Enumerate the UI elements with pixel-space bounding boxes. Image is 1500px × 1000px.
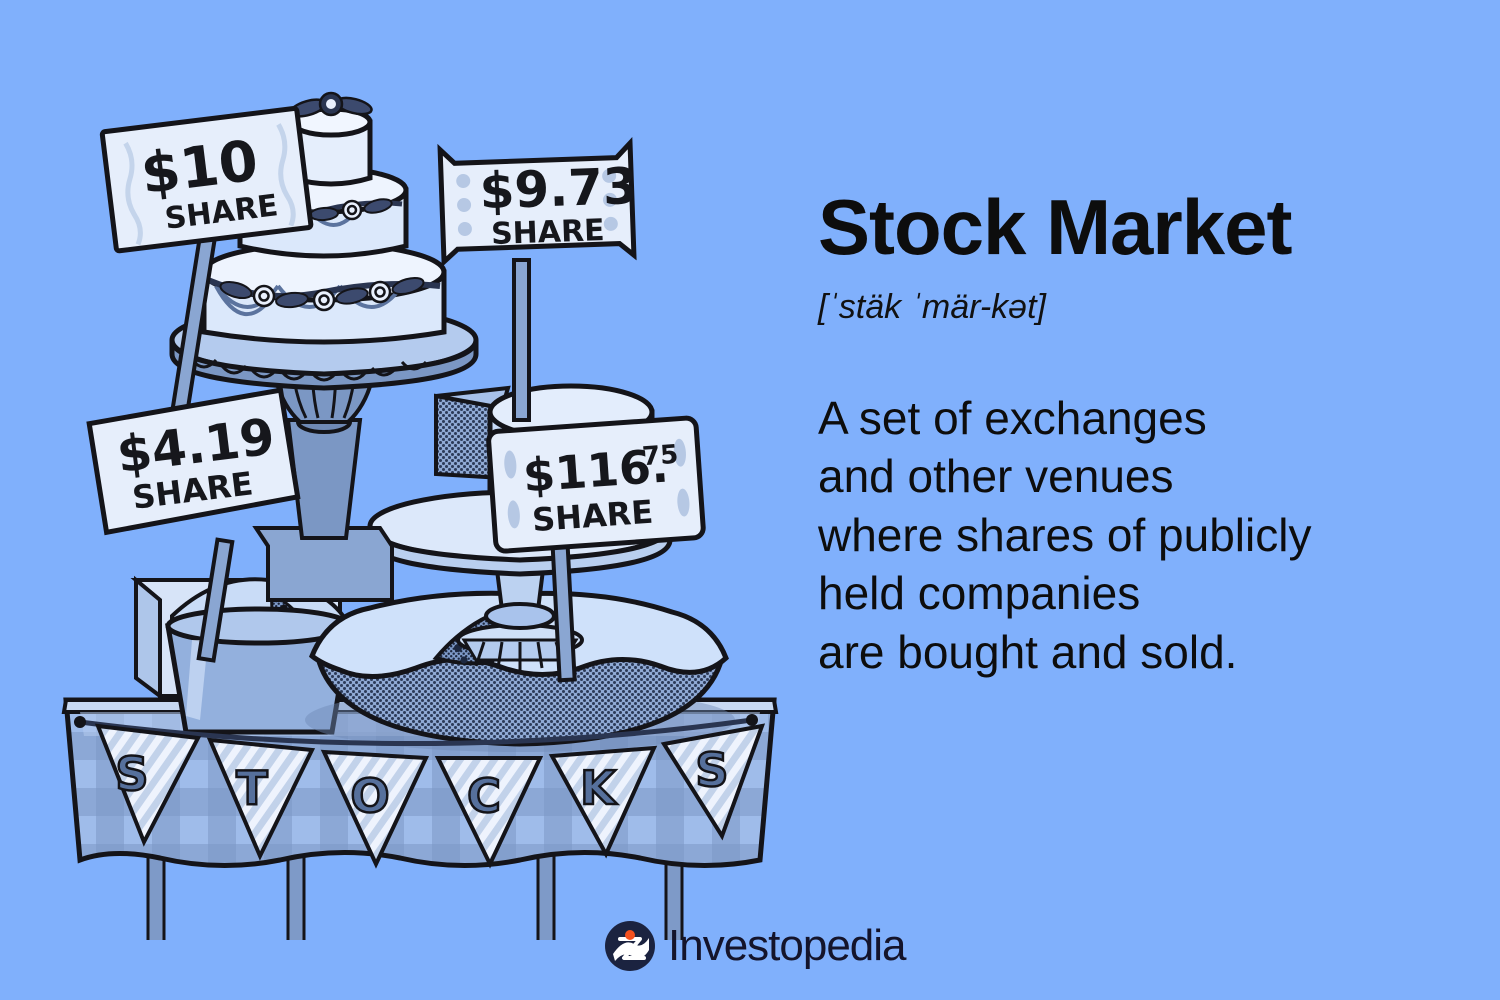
definition-line: and other venues	[818, 447, 1458, 505]
pronunciation: [ˈstäk ˈmär-kət]	[818, 288, 1458, 327]
sign-cents-4: 75	[641, 440, 679, 472]
bake-sale-illustration: $10 SHARE $9.73 SHARE $4.19 SHARE	[40, 60, 800, 940]
definition-panel: Stock Market [ˈstäk ˈmär-kət] A set of e…	[818, 188, 1458, 681]
poster-canvas: $10 SHARE $9.73 SHARE $4.19 SHARE	[0, 0, 1500, 1000]
sign-price-2: $9.73	[479, 157, 639, 220]
investopedia-logo: Investopedia	[604, 920, 906, 972]
definition-text: A set of exchanges and other venues wher…	[818, 389, 1458, 681]
pennant-letter: O	[350, 769, 389, 823]
definition-line: where shares of publicly	[818, 506, 1458, 564]
definition-line: held companies	[818, 564, 1458, 622]
sign-blueberry-pie: $116. 75 SHARE	[488, 417, 704, 551]
sign-round-cake: $9.73 SHARE	[440, 143, 640, 262]
definition-line: are bought and sold.	[818, 623, 1458, 681]
left-stand-column	[288, 420, 360, 538]
sign-cobbler-pot: $4.19 SHARE	[88, 390, 299, 533]
investopedia-wordmark: Investopedia	[668, 924, 906, 968]
sign-unit-2: SHARE	[491, 213, 606, 252]
pennant-letter: S	[695, 743, 728, 797]
pennant-letter: K	[580, 761, 618, 815]
page-title: Stock Market	[818, 188, 1458, 266]
investopedia-mark-icon	[604, 920, 656, 972]
post-round-cake	[514, 260, 529, 420]
pennant-letter: C	[467, 769, 501, 823]
pot-riser-side	[136, 580, 160, 696]
pennant-letter: S	[115, 747, 148, 801]
right-stand-collar	[486, 604, 554, 628]
pennant-letter: T	[236, 761, 268, 815]
sign-wedding-cake: $10 SHARE	[102, 108, 311, 251]
definition-line: A set of exchanges	[818, 389, 1458, 447]
